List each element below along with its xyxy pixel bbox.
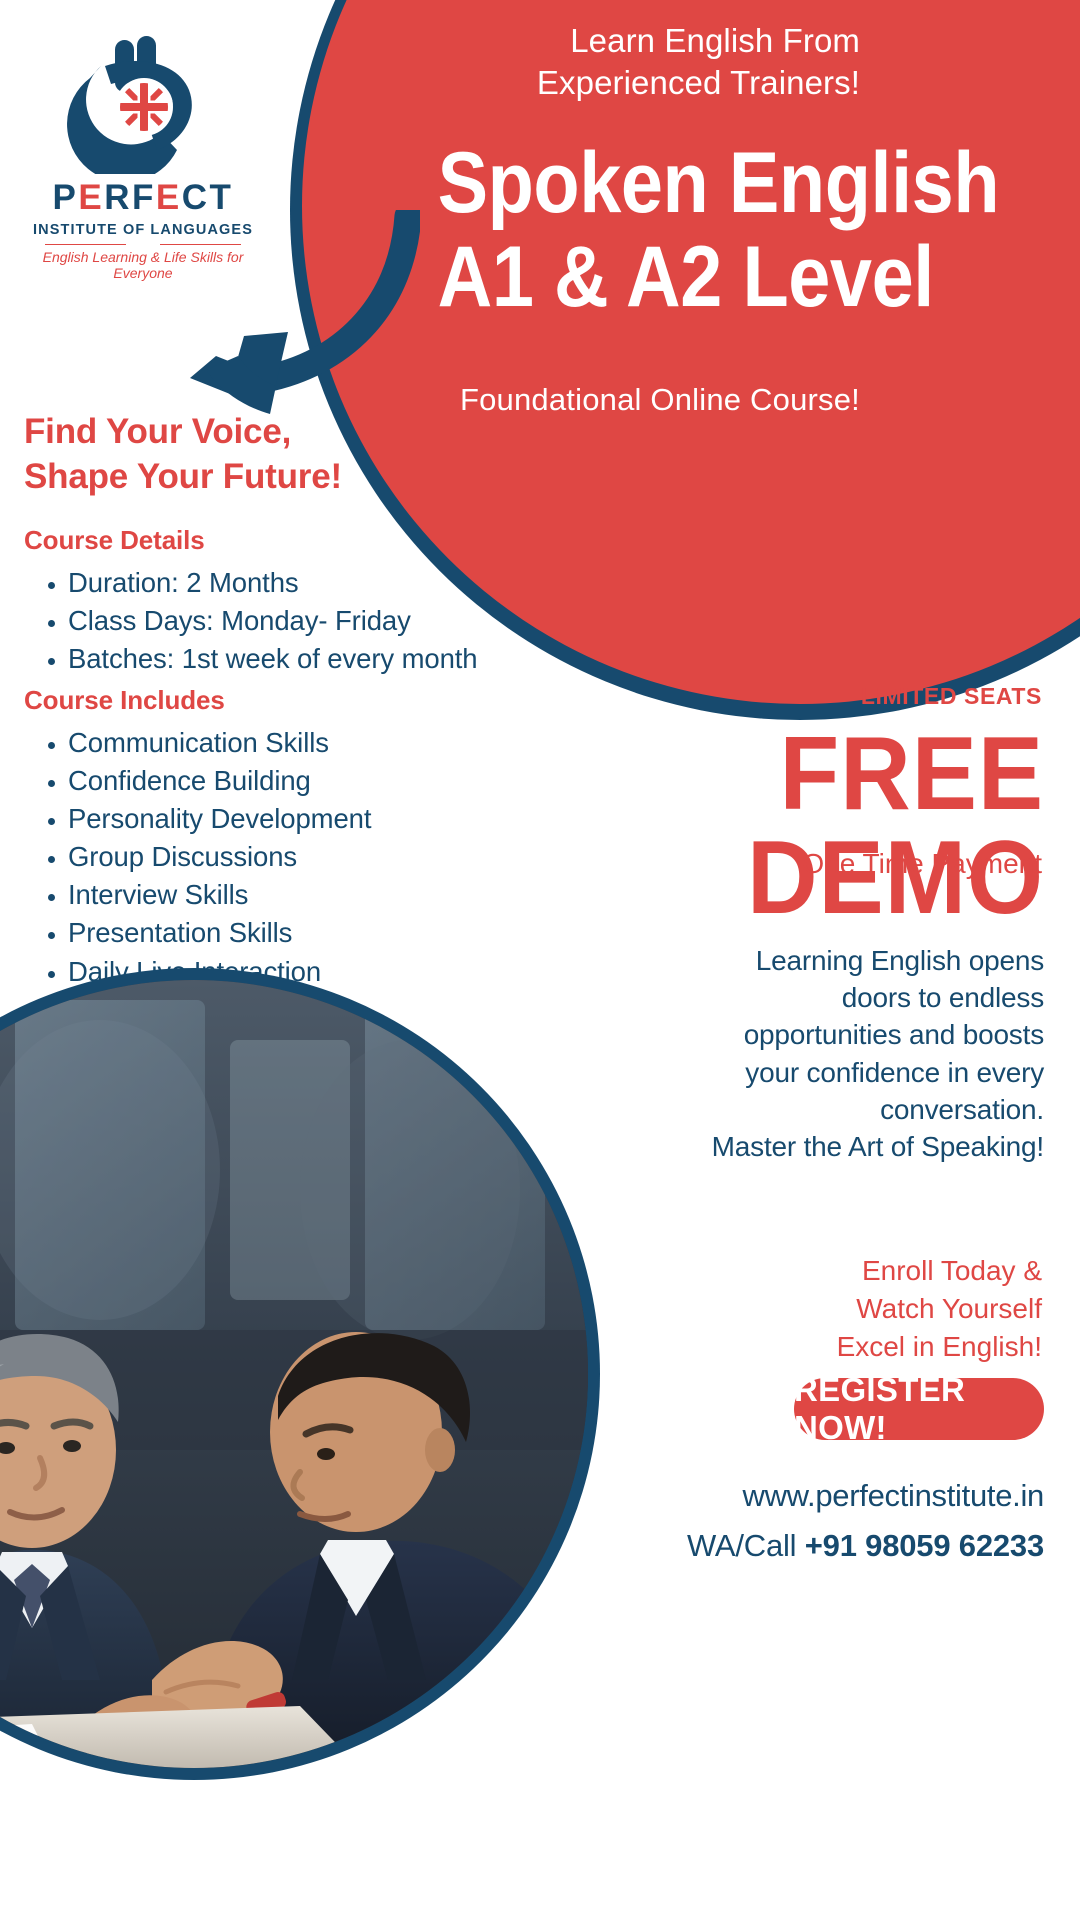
ok-hand-uk-flag-icon <box>53 34 233 174</box>
register-now-button[interactable]: REGISTER NOW! <box>794 1378 1044 1440</box>
hero-title-line2: A1 & A2 Level <box>438 234 860 320</box>
hero-kicker: Learn English From Experienced Trainers! <box>380 20 860 104</box>
course-details-heading: Course Details <box>24 525 544 556</box>
logo-wordmark-e1: E <box>78 178 104 217</box>
contact-number[interactable]: +91 98059 62233 <box>805 1528 1044 1563</box>
blurb-line2: doors to endless <box>644 979 1044 1016</box>
website-url[interactable]: www.perfectinstitute.in <box>524 1478 1044 1514</box>
blurb-line6: Master the Art of Speaking! <box>644 1128 1044 1165</box>
course-includes-heading: Course Includes <box>24 685 544 716</box>
hero-subtitle: Foundational Online Course! <box>380 382 860 418</box>
free-demo-headline: FREE DEMO <box>518 722 1044 930</box>
blurb-line3: opportunities and boosts <box>644 1016 1044 1053</box>
hero-kicker-line1: Learn English From <box>380 20 860 62</box>
blurb-line1: Learning English opens <box>644 942 1044 979</box>
list-item: Interview Skills <box>68 878 544 912</box>
value-proposition-blurb: Learning English opens doors to endless … <box>644 942 1044 1165</box>
list-item: Communication Skills <box>68 726 544 760</box>
contact-prefix: WA/Call <box>687 1528 805 1563</box>
tagline: Find Your Voice, Shape Your Future! <box>24 410 444 500</box>
blurb-line4: your confidence in every <box>644 1054 1044 1091</box>
list-item: Presentation Skills <box>68 916 544 950</box>
list-item: Class Days: Monday- Friday <box>68 604 544 638</box>
enroll-line2: Watch Yourself <box>642 1290 1042 1328</box>
hero-title-line1: Spoken English <box>438 135 1000 231</box>
hero-title: Spoken English A1 & A2 Level <box>438 140 860 320</box>
list-item: Confidence Building <box>68 764 544 798</box>
blurb-line5: conversation. <box>644 1091 1044 1128</box>
tagline-line1: Find Your Voice, <box>24 410 444 455</box>
enroll-line3: Excel in English! <box>642 1328 1042 1366</box>
list-item: Batches: 1st week of every month <box>68 642 544 676</box>
one-time-payment-note: One Time Payment <box>522 848 1042 880</box>
course-details-section: Course Details Duration: 2 Months Class … <box>24 525 544 680</box>
hero-content: Learn English From Experienced Trainers!… <box>380 20 860 418</box>
enroll-line1: Enroll Today & <box>642 1252 1042 1290</box>
enroll-callout: Enroll Today & Watch Yourself Excel in E… <box>642 1252 1042 1366</box>
course-includes-list: Communication Skills Confidence Building… <box>24 726 544 989</box>
poster-root: Learn English From Experienced Trainers!… <box>0 0 1080 1920</box>
limited-seats-badge: LIMITED SEATS <box>522 683 1042 710</box>
course-includes-section: Course Includes Communication Skills Con… <box>24 685 544 993</box>
tagline-line2: Shape Your Future! <box>24 455 444 500</box>
hero-kicker-line2: Experienced Trainers! <box>380 62 860 104</box>
list-item: Group Discussions <box>68 840 544 874</box>
meeting-photo <box>0 980 588 1768</box>
list-item: Personality Development <box>68 802 544 836</box>
curved-down-left-arrow-icon <box>120 210 420 440</box>
course-details-list: Duration: 2 Months Class Days: Monday- F… <box>24 566 544 676</box>
list-item: Duration: 2 Months <box>68 566 544 600</box>
contact-line[interactable]: WA/Call +91 98059 62233 <box>484 1528 1044 1564</box>
